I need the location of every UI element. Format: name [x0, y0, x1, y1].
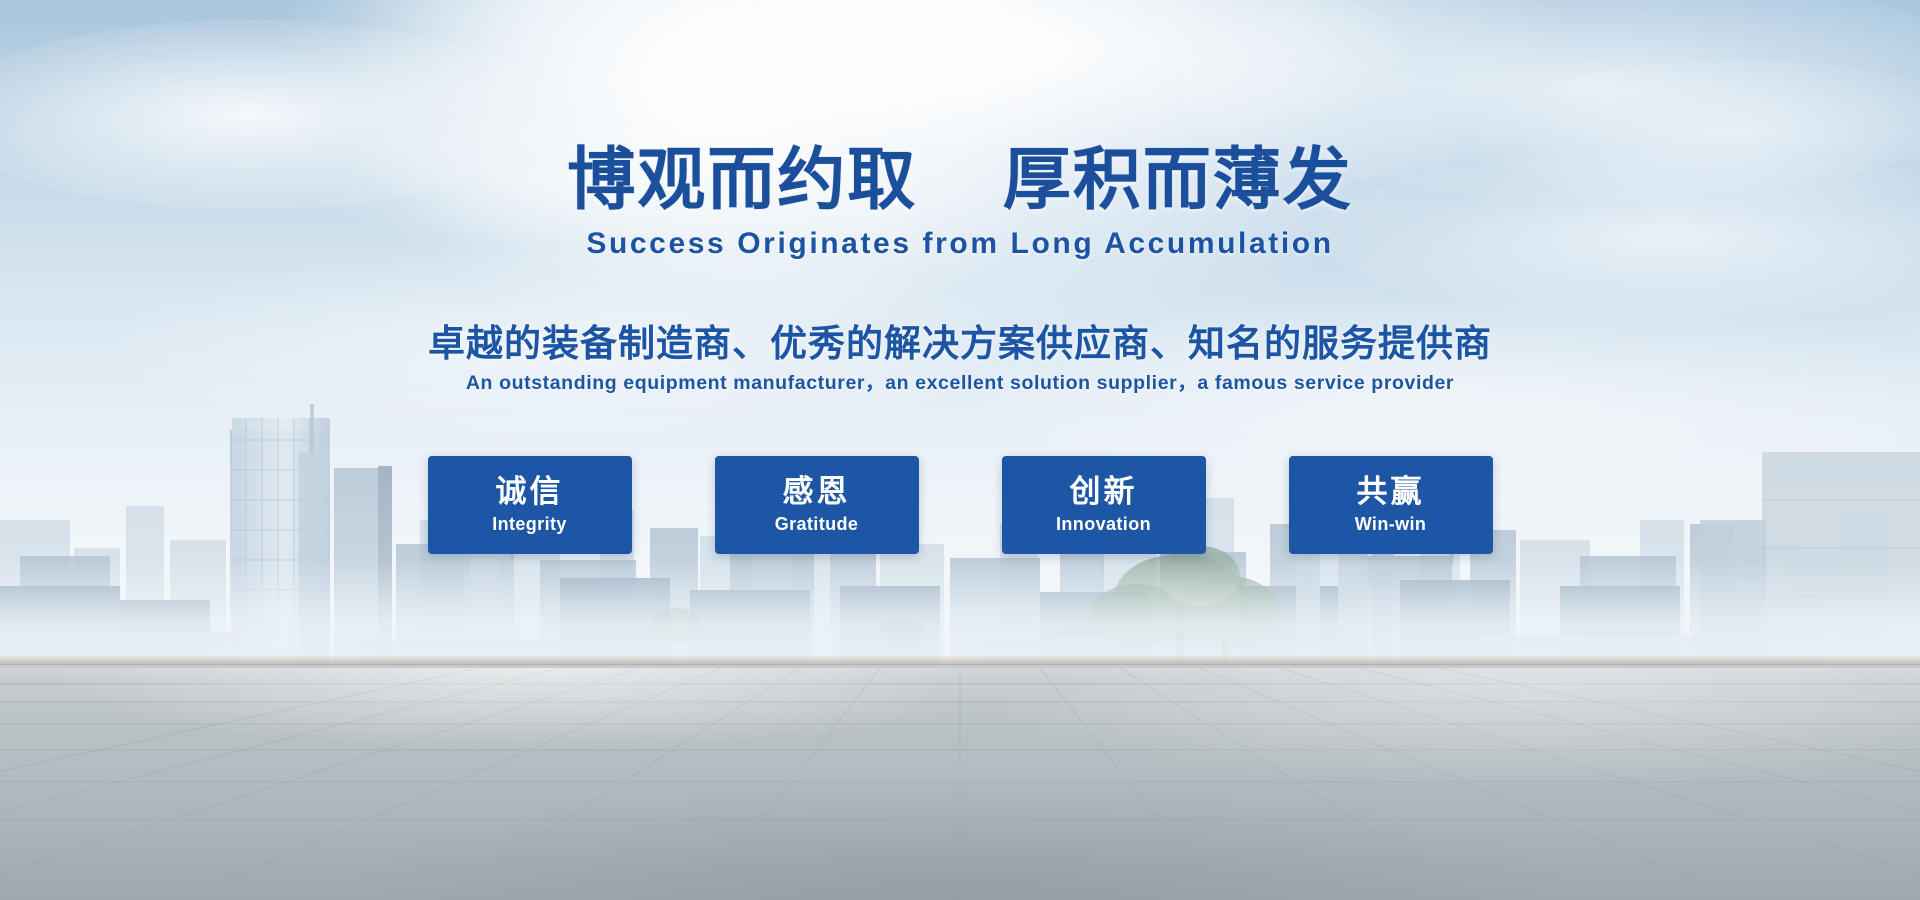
hero-banner: 博观而约取 厚积而薄发 Success Originates from Long…	[0, 0, 1920, 900]
value-card-innovation[interactable]: 创新 Innovation	[1002, 456, 1206, 554]
value-card-winwin-en: Win-win	[1355, 514, 1427, 535]
value-card-innovation-en: Innovation	[1056, 514, 1151, 535]
headline-chinese-part2: 厚积而薄发	[1003, 141, 1353, 220]
value-card-integrity-cn: 诚信	[496, 475, 564, 510]
value-card-gratitude-cn: 感恩	[783, 475, 851, 510]
value-card-integrity-en: Integrity	[492, 514, 567, 535]
headline-chinese-part1: 博观而约取	[567, 141, 917, 220]
value-card-gratitude[interactable]: 感恩 Gratitude	[715, 456, 919, 554]
value-card-gratitude-en: Gratitude	[775, 514, 859, 535]
value-card-innovation-cn: 创新	[1070, 475, 1138, 510]
headline-chinese: 博观而约取 厚积而薄发	[0, 124, 1920, 223]
value-card-winwin[interactable]: 共赢 Win-win	[1289, 456, 1493, 554]
tagline-chinese: 卓越的装备制造商、优秀的解决方案供应商、知名的服务提供商	[0, 313, 1920, 367]
headline-english: Success Originates from Long Accumulatio…	[0, 227, 1920, 261]
value-cards: 诚信 Integrity 感恩 Gratitude 创新 Innovation …	[0, 456, 1920, 554]
value-card-winwin-cn: 共赢	[1357, 475, 1425, 510]
value-card-integrity[interactable]: 诚信 Integrity	[428, 456, 632, 554]
tagline-english: An outstanding equipment manufacturer，an…	[0, 366, 1920, 395]
banner-content: 博观而约取 厚积而薄发 Success Originates from Long…	[0, 0, 1920, 900]
